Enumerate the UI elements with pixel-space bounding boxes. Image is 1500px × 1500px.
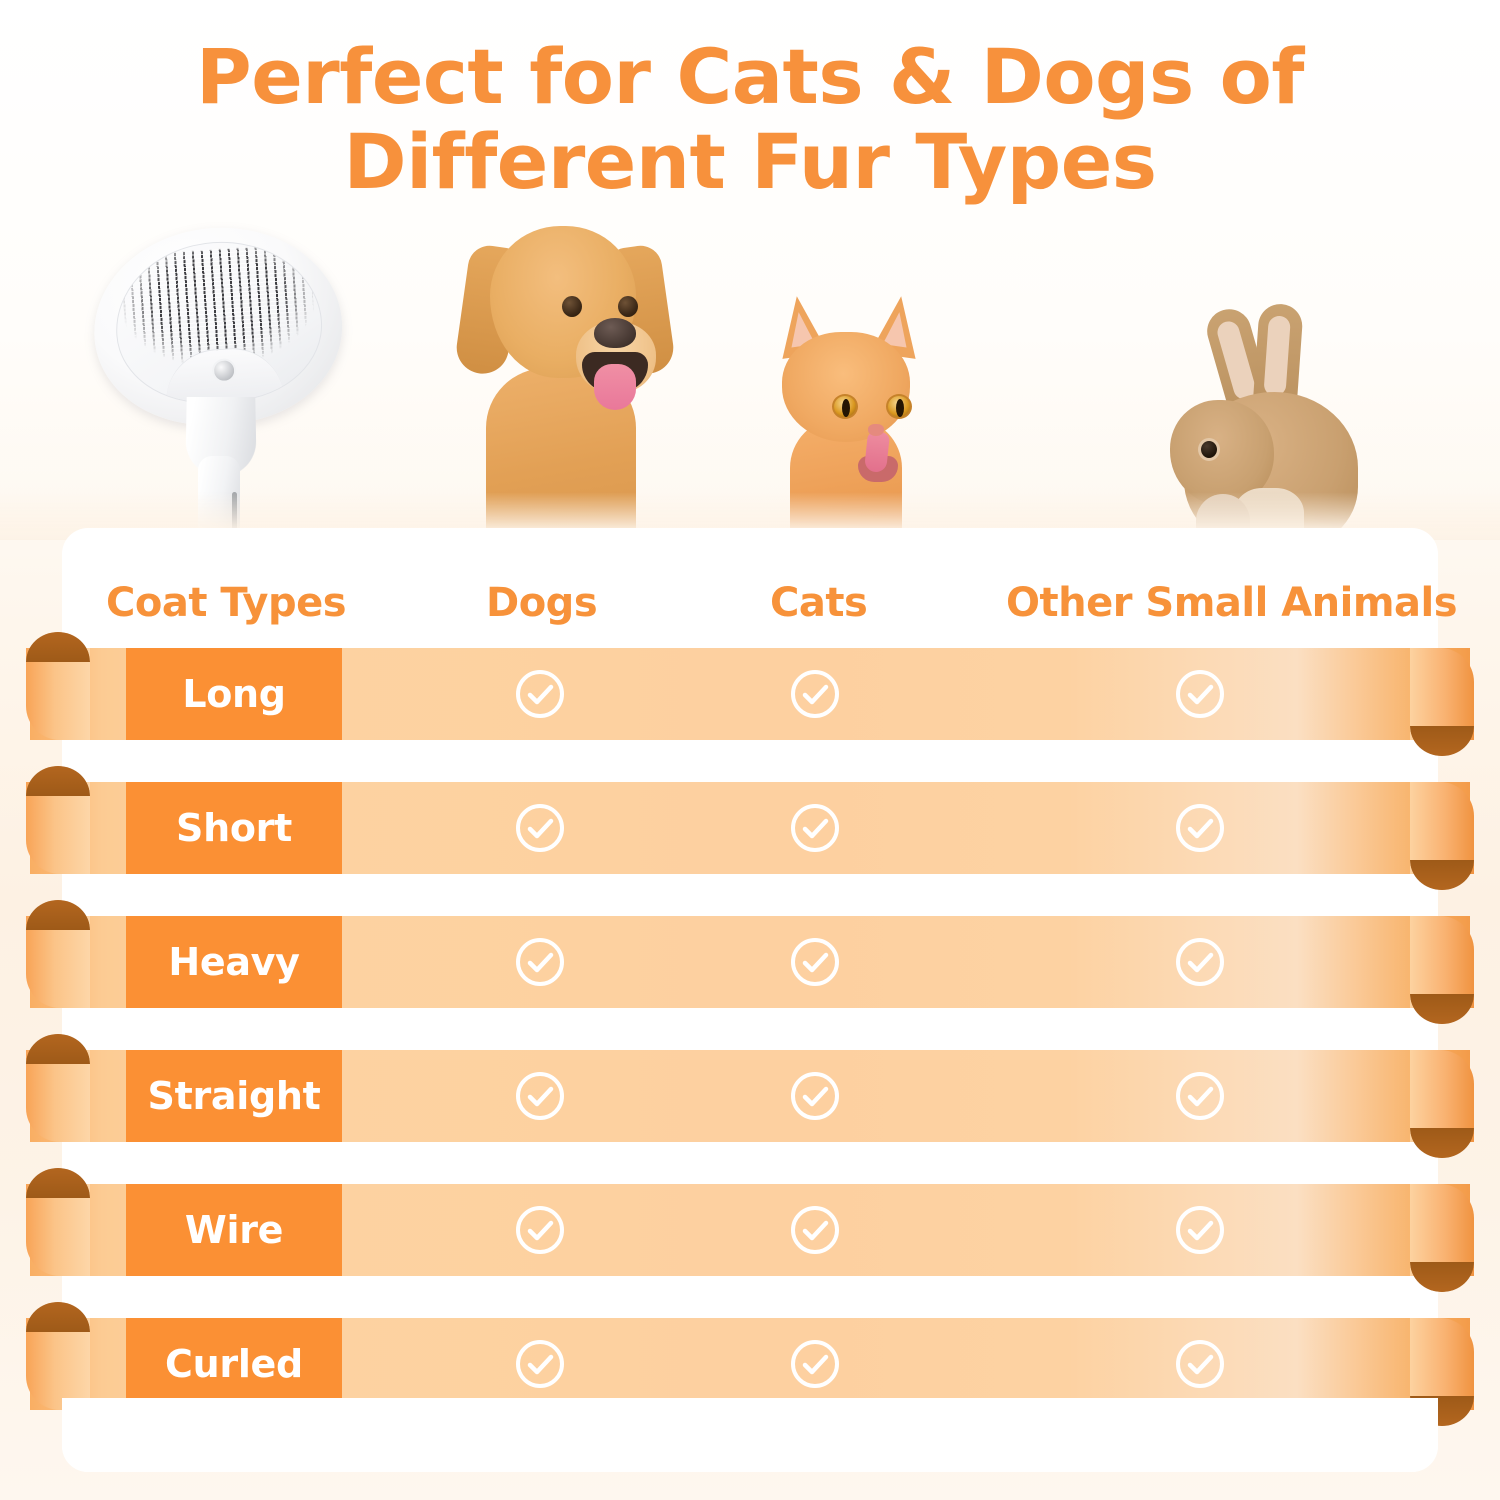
- column-header-coat-types: Coat Types: [106, 580, 346, 626]
- check-circle-icon: [514, 1338, 566, 1390]
- page-title: Perfect for Cats & Dogs of Different Fur…: [0, 34, 1500, 204]
- check-circle-icon: [514, 936, 566, 988]
- coat-type-label: Wire: [185, 1208, 283, 1252]
- check-circle-icon: [789, 1204, 841, 1256]
- table-row: Long: [0, 648, 1500, 740]
- check-circle-icon: [514, 1070, 566, 1122]
- coat-type-cell: Curled: [126, 1318, 342, 1410]
- cat-nose: [868, 424, 884, 436]
- rabbit-ear-inner-left: [1215, 319, 1258, 402]
- coat-type-label: Short: [176, 806, 292, 850]
- page-title-line-2: Different Fur Types: [0, 119, 1500, 204]
- column-header-cats: Cats: [770, 580, 867, 626]
- check-circle-icon: [789, 802, 841, 854]
- coat-type-label: Long: [182, 672, 285, 716]
- ribbon-fold-left: [26, 1034, 90, 1064]
- check-circle-icon: [514, 668, 566, 720]
- ribbon-curl-left: [26, 648, 90, 740]
- column-header-dogs: Dogs: [486, 580, 597, 626]
- check-circle-icon: [514, 1204, 566, 1256]
- coat-type-cell: Heavy: [126, 916, 342, 1008]
- check-circle-icon: [1174, 802, 1226, 854]
- table-header-row: Coat Types Dogs Cats Other Small Animals: [62, 528, 1438, 654]
- coat-type-cell: Short: [126, 782, 342, 874]
- coat-type-label: Straight: [148, 1074, 321, 1118]
- card-footer-strip: [62, 1398, 1438, 1472]
- check-circle-icon: [1174, 1070, 1226, 1122]
- table-row: Straight: [0, 1050, 1500, 1142]
- check-circle-icon: [1174, 1204, 1226, 1256]
- dog-eye-left: [562, 296, 582, 317]
- ribbon-curl-left: [26, 1184, 90, 1276]
- ribbon-curl-right: [1410, 1050, 1474, 1142]
- ribbon-curl-left: [26, 916, 90, 1008]
- brush-pin-plate: [110, 235, 327, 409]
- rabbit-ear-inner-right: [1263, 315, 1291, 396]
- ribbon-fold-right: [1410, 860, 1474, 890]
- ribbon-fold-right: [1410, 726, 1474, 756]
- ribbon-fold-left: [26, 1302, 90, 1332]
- ribbon-curl-right: [1410, 916, 1474, 1008]
- rabbit-eye: [1198, 438, 1220, 461]
- coat-type-label: Curled: [165, 1342, 303, 1386]
- table-row: Curled: [0, 1318, 1500, 1410]
- cat-eye-left: [832, 394, 858, 419]
- ribbon-curl-right: [1410, 1184, 1474, 1276]
- ribbon-curl-left: [26, 782, 90, 874]
- coat-type-cell: Wire: [126, 1184, 342, 1276]
- ribbon-fold-right: [1410, 1262, 1474, 1292]
- check-circle-icon: [1174, 668, 1226, 720]
- dog-head: [490, 226, 636, 378]
- ribbon-fold-left: [26, 900, 90, 930]
- hero-image-band: [0, 200, 1500, 540]
- ribbon-fold-left: [26, 766, 90, 796]
- golden-retriever-dog-image: [438, 210, 688, 540]
- check-circle-icon: [789, 936, 841, 988]
- cat-head: [782, 332, 910, 442]
- ribbon-fold-right: [1410, 1128, 1474, 1158]
- check-circle-icon: [789, 1338, 841, 1390]
- table-row: Short: [0, 782, 1500, 874]
- table-row: Heavy: [0, 916, 1500, 1008]
- table-row: Wire: [0, 1184, 1500, 1276]
- ribbon-curl-right: [1410, 648, 1474, 740]
- check-circle-icon: [789, 668, 841, 720]
- column-header-other-small-animals: Other Small Animals: [1006, 580, 1457, 626]
- dog-tongue: [594, 364, 636, 410]
- ribbon-fold-right: [1410, 994, 1474, 1024]
- check-circle-icon: [514, 802, 566, 854]
- dog-nose: [594, 318, 636, 348]
- page-title-line-1: Perfect for Cats & Dogs of: [0, 34, 1500, 119]
- check-circle-icon: [789, 1070, 841, 1122]
- coat-type-cell: Straight: [126, 1050, 342, 1142]
- ribbon-curl-right: [1410, 782, 1474, 874]
- coat-type-label: Heavy: [168, 940, 299, 984]
- ribbon-curl-right: [1410, 1318, 1474, 1410]
- ribbon-curl-left: [26, 1318, 90, 1410]
- coat-type-cell: Long: [126, 648, 342, 740]
- check-circle-icon: [1174, 1338, 1226, 1390]
- ribbon-fold-left: [26, 1168, 90, 1198]
- ribbon-curl-left: [26, 1050, 90, 1142]
- table-rows: Long Short: [0, 648, 1500, 1452]
- check-circle-icon: [1174, 936, 1226, 988]
- cat-eye-right: [886, 394, 912, 419]
- dog-eye-right: [618, 296, 638, 317]
